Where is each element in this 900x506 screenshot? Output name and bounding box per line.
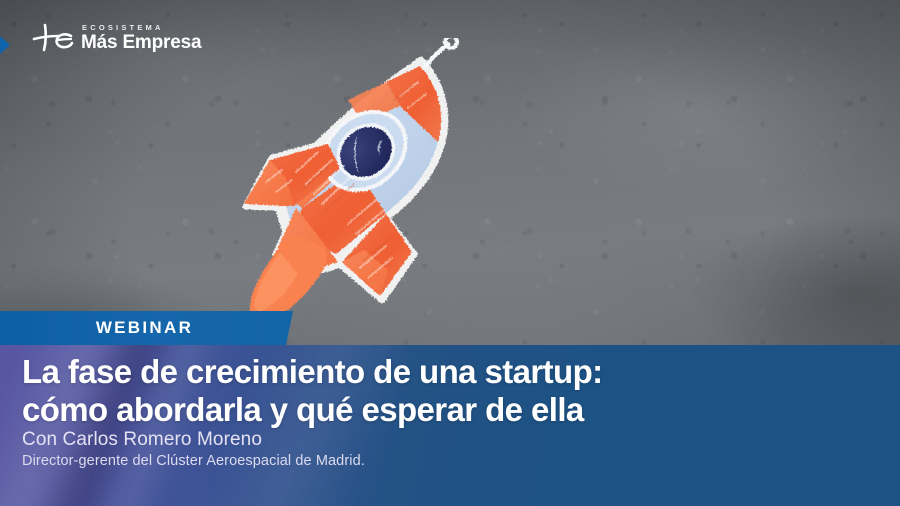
page-title: La fase de crecimiento de una startup: c… xyxy=(22,353,603,428)
plus-e-mark-icon xyxy=(32,22,74,54)
webinar-badge-label: WEBINAR xyxy=(96,318,197,338)
title-line-2: cómo abordarla y qué esperar de ella xyxy=(22,391,603,429)
rocket-illustration xyxy=(236,38,506,328)
speaker-role: Director-gerente del Clúster Aeroespacia… xyxy=(22,453,365,469)
webinar-badge: WEBINAR xyxy=(0,311,293,345)
logo-name: Más Empresa xyxy=(81,33,201,52)
title-line-1: La fase de crecimiento de una startup: xyxy=(22,353,603,390)
speaker-name: Con Carlos Romero Moreno xyxy=(22,429,262,451)
title-banner: La fase de crecimiento de una startup: c… xyxy=(0,345,900,506)
webinar-promo-banner: ECOSISTEMA Más Empresa WEBINAR La fase d… xyxy=(0,0,900,506)
brand-logo: ECOSISTEMA Más Empresa xyxy=(32,22,201,54)
logo-eyebrow: ECOSISTEMA xyxy=(82,24,201,32)
